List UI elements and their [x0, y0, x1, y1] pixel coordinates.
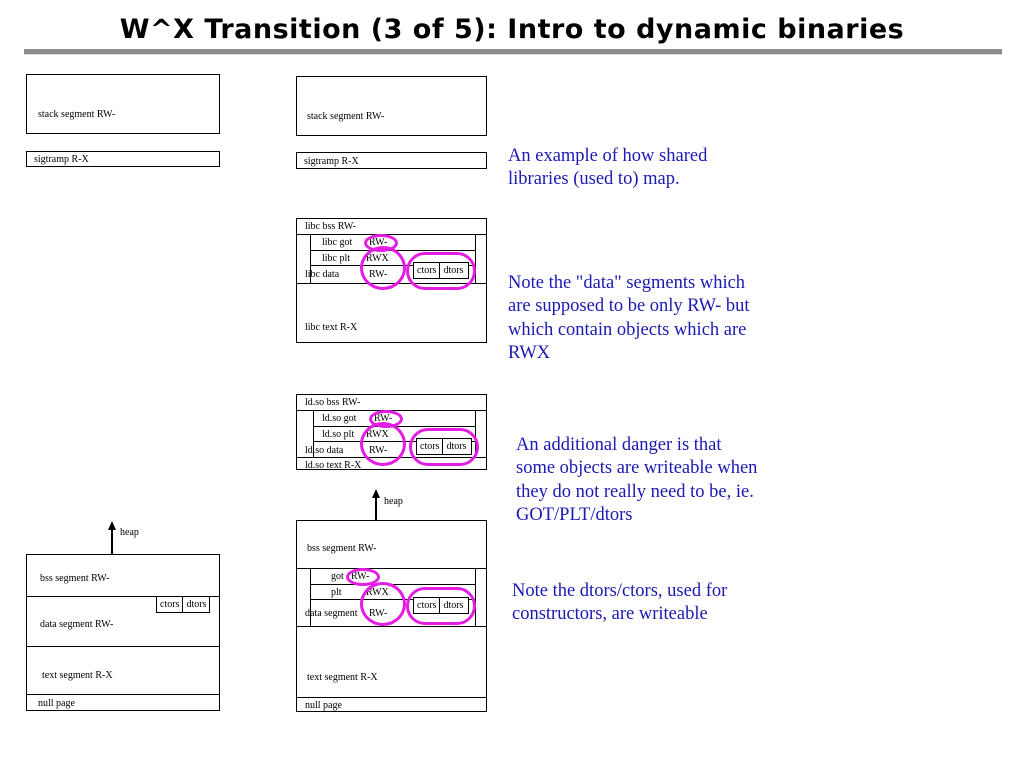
ldso-data-perm: RW- [369, 446, 387, 456]
middle-heap-arrow [372, 489, 381, 521]
middle-got-perm: RW- [351, 572, 369, 582]
ldso-bss-label: ld.so bss RW- [305, 398, 360, 408]
middle-bss-label: bss segment RW- [307, 544, 376, 554]
middle-text-null-divider [296, 697, 487, 698]
libc-got-perm: RW- [369, 238, 387, 248]
middle-null-page-label: null page [305, 701, 342, 711]
left-text-null-divider [26, 694, 220, 695]
middle-sigtramp-label: sigtramp R-X [304, 157, 359, 167]
libc-data-divider [296, 283, 487, 284]
note-shared-libraries: An example of how shared libraries (used… [508, 145, 838, 192]
libc-plt-label: libc plt [322, 254, 350, 264]
left-null-page-label: null page [38, 699, 75, 709]
left-stack-segment-label: stack segment RW- [38, 110, 115, 120]
middle-plt-label: plt [331, 588, 342, 598]
middle-data-divider [296, 626, 487, 627]
middle-bss-divider [296, 568, 487, 569]
middle-text-label: text segment R-X [307, 673, 378, 683]
note-writeable-objects: An additional danger is that some object… [516, 434, 876, 528]
libc-got-label: libc got [322, 238, 352, 248]
note-data-segments-rwx: Note the "data" segments which are suppo… [508, 272, 868, 366]
left-text-label: text segment R-X [42, 671, 113, 681]
libc-ctors-cell: ctors [414, 263, 439, 278]
ldso-got-label: ld.so got [322, 414, 356, 424]
libc-data-perm: RW- [369, 270, 387, 280]
left-data-label: data segment RW- [40, 620, 113, 630]
left-heap-label: heap [120, 527, 139, 538]
libc-inner-right-rule [475, 234, 476, 283]
ldso-data-label: ld.so data [305, 446, 343, 456]
middle-heap-label: heap [384, 496, 403, 507]
libc-text-label: libc text R-X [305, 323, 357, 333]
left-stack-segment-box [26, 74, 220, 134]
left-data-text-divider [26, 646, 220, 647]
libc-bss-divider [296, 234, 487, 235]
left-ctors-dtors-box: ctors dtors [156, 596, 210, 613]
libc-bss-label: libc bss RW- [305, 222, 356, 232]
libc-got-divider [310, 250, 475, 251]
ldso-bss-divider [296, 410, 487, 411]
libc-ctors-dtors-box: ctors dtors [413, 262, 469, 279]
ldso-ctors-dtors-box: ctors dtors [416, 438, 472, 455]
middle-got-divider [310, 584, 475, 585]
left-ctors-cell: ctors [157, 597, 182, 612]
ldso-got-perm: RW- [374, 414, 392, 424]
left-dtors-cell: dtors [182, 597, 209, 612]
ldso-dtors-cell: dtors [442, 439, 469, 454]
left-heap-arrow [108, 521, 117, 555]
libc-dtors-cell: dtors [439, 263, 466, 278]
libc-plt-perm: RWX [366, 254, 389, 264]
middle-stack-segment-label: stack segment RW- [307, 112, 384, 122]
left-bss-label: bss segment RW- [40, 574, 109, 584]
middle-data-label: data segment [305, 609, 357, 619]
ldso-text-label: ld.so text R-X [305, 461, 361, 471]
middle-ctors-cell: ctors [414, 598, 439, 613]
ldso-plt-label: ld.so plt [322, 430, 354, 440]
left-sigtramp-label: sigtramp R-X [34, 155, 89, 165]
note-dtors-ctors-writeable: Note the dtors/ctors, used for construct… [512, 580, 872, 627]
middle-ctors-dtors-box: ctors dtors [413, 597, 469, 614]
middle-got-label: got [331, 572, 344, 582]
middle-data-perm: RW- [369, 609, 387, 619]
libc-data-label: libc data [305, 270, 339, 280]
ldso-plt-perm: RWX [366, 430, 389, 440]
ldso-data-divider [296, 457, 487, 458]
middle-dtors-cell: dtors [439, 598, 466, 613]
middle-inner-right-rule [475, 568, 476, 626]
page-title: W^X Transition (3 of 5): Intro to dynami… [0, 14, 1024, 45]
title-divider [24, 49, 1002, 55]
ldso-inner-right-rule [475, 410, 476, 457]
middle-plt-perm: RWX [366, 588, 389, 598]
ldso-got-divider [313, 426, 475, 427]
middle-stack-segment-box [296, 76, 487, 136]
ldso-ctors-cell: ctors [417, 439, 442, 454]
